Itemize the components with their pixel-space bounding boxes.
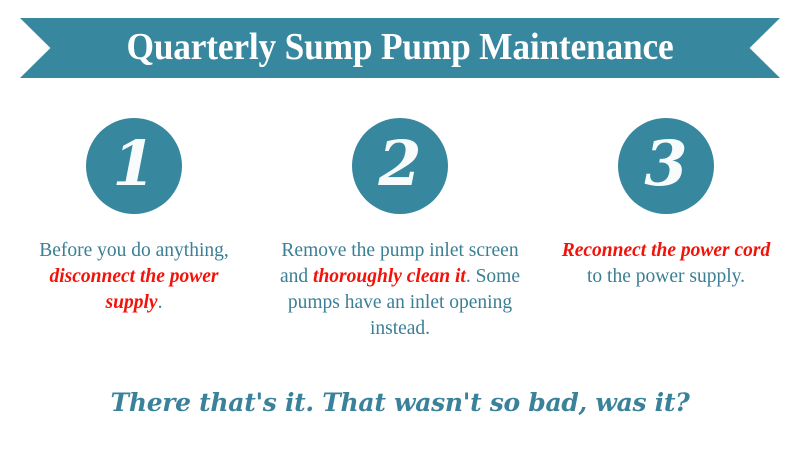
step-text-part: Before you do anything,: [39, 240, 229, 261]
step-text: Reconnect the power cord to the power su…: [557, 238, 775, 290]
step-text: Before you do anything, disconnect the p…: [32, 238, 237, 316]
infographic-root: Quarterly Sump Pump Maintenance 1 Before…: [0, 0, 800, 450]
title-banner: Quarterly Sump Pump Maintenance: [20, 18, 780, 78]
step-item: 1 Before you do anything, disconnect the…: [1, 118, 267, 316]
step-item: 2 Remove the pump inlet screen and thoro…: [267, 118, 533, 342]
step-item: 3 Reconnect the power cord to the power …: [533, 118, 799, 290]
page-title: Quarterly Sump Pump Maintenance: [47, 18, 754, 78]
step-text-highlight: disconnect the power supply: [50, 266, 219, 313]
step-text-part: to the power supply.: [587, 266, 745, 287]
step-number-badge: 1: [86, 118, 182, 214]
step-text-part: .: [158, 292, 163, 313]
step-number-badge: 3: [618, 118, 714, 214]
step-text-highlight: Reconnect the power cord: [562, 240, 771, 261]
footer-tagline: There that's it. That wasn't so bad, was…: [0, 388, 800, 417]
step-text: Remove the pump inlet screen and thoroug…: [266, 238, 534, 342]
step-number-badge: 2: [352, 118, 448, 214]
steps-row: 1 Before you do anything, disconnect the…: [0, 118, 800, 342]
step-text-highlight: thoroughly clean it: [313, 266, 466, 287]
